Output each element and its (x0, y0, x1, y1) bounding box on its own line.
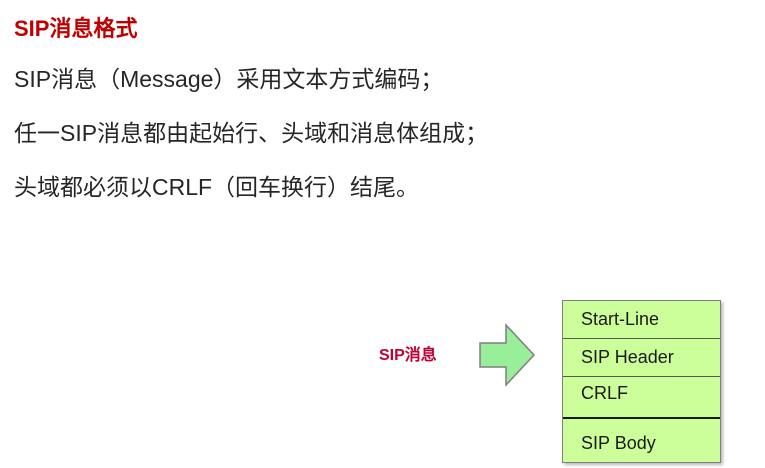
body-line-1: SIP消息（Message）采用文本方式编码； (14, 68, 714, 91)
diagram-source-label: SIP消息 (379, 341, 437, 365)
structure-row-start-line: Start-Line (563, 301, 720, 339)
sip-message-structure-box: Start-Line SIP Header CRLF SIP Body (562, 300, 721, 463)
right-block-arrow-icon (478, 322, 536, 388)
structure-row-crlf: CRLF (563, 377, 720, 419)
structure-row-sip-header: SIP Header (563, 339, 720, 377)
structure-row-sip-body: SIP Body (563, 419, 720, 460)
body-line-3: 头域都必须以CRLF（回车换行）结尾。 (14, 176, 714, 199)
body-text-block: SIP消息（Message）采用文本方式编码； 任一SIP消息都由起始行、头域和… (14, 68, 714, 230)
slide-title: SIP消息格式 (14, 16, 137, 42)
body-line-2: 任一SIP消息都由起始行、头域和消息体组成； (14, 122, 714, 145)
